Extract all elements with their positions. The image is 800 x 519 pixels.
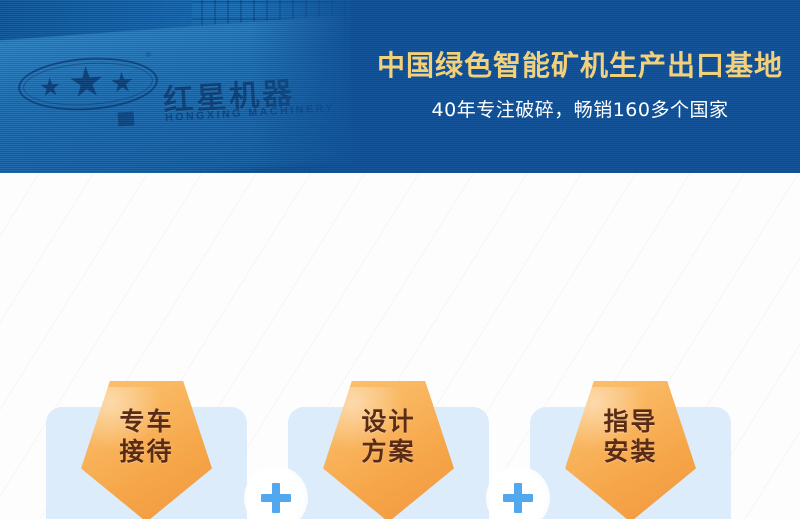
badge-shield-icon: 指导 安装	[565, 381, 696, 519]
plus-icon	[261, 483, 291, 513]
service-card-zhidao[interactable]: 指导 安装 免费安装，培训 指导生产	[530, 407, 731, 519]
badge-label-line1: 指导	[603, 407, 657, 437]
badge-label-line1: 专车	[119, 407, 173, 437]
badge-label-line2: 方案	[361, 437, 415, 467]
service-card-list: 专车 接待 提前预约，专车 负责接送 设计 方案 到厂考察，免费 设计配置方案	[46, 407, 754, 519]
hero-banner: ® 红星机器 HONGXING MACHINERY 中国绿色智能矿机生产出口基地…	[0, 0, 800, 173]
banner-subtitle: 40年专注破碎，畅销160多个国家	[432, 95, 729, 122]
badge-label-line2: 接待	[119, 437, 173, 467]
promo-page: ® 红星机器 HONGXING MACHINERY 中国绿色智能矿机生产出口基地…	[0, 0, 800, 519]
plus-icon	[503, 483, 533, 513]
badge-label-line2: 安装	[603, 437, 657, 467]
banner-text-block: 中国绿色智能矿机生产出口基地 40年专注破碎，畅销160多个国家	[360, 0, 800, 173]
badge-shield-icon: 专车 接待	[81, 381, 212, 519]
service-card-zhuanche[interactable]: 专车 接待 提前预约，专车 负责接送	[46, 407, 247, 519]
service-card-sheji[interactable]: 设计 方案 到厂考察，免费 设计配置方案	[288, 407, 489, 519]
badge-shield-icon: 设计 方案	[323, 381, 454, 519]
content-area: 专车 接待 提前预约，专车 负责接送 设计 方案 到厂考察，免费 设计配置方案	[0, 173, 800, 519]
banner-title: 中国绿色智能矿机生产出口基地	[377, 51, 783, 82]
badge-label-line1: 设计	[361, 407, 415, 437]
